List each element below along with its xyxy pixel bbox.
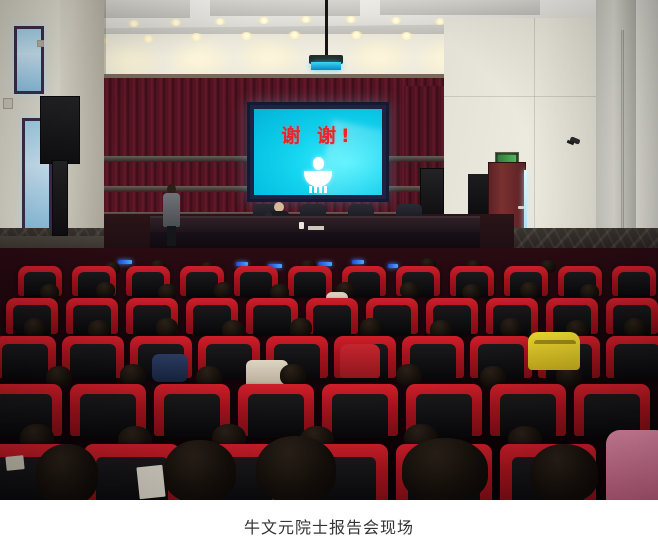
audience-head-f2 [164,440,236,500]
device-glow-5 [352,260,364,264]
blue-shirt [152,354,188,382]
wall-glow-4 [350,40,408,74]
slide-logo-icon [254,157,382,195]
wall-plate-small [37,40,44,47]
logo-head-shape [313,157,324,170]
caption-text: 牛文元院士报告会现场 [244,514,414,538]
audience-head-c1 [24,318,46,337]
wall-glow-3 [240,40,298,74]
handout-paper [136,465,165,500]
downlight-l5 [288,31,301,39]
audience-head-f4 [402,438,488,500]
audience-head-d5 [396,364,422,386]
speaker-cabinet-left [40,96,80,164]
standing-presenter [163,184,180,246]
audience-head-f5 [530,444,598,500]
presenter-jacket [163,193,180,227]
downlight-u4 [214,18,226,25]
seat-back-c10 [614,344,658,379]
audience-head-c5 [290,318,312,337]
downlight-l3 [190,33,203,41]
papers-on-table [308,226,324,230]
audience-area [0,248,658,500]
seat-back-a6 [294,272,327,297]
ceiling-beam-2 [210,0,360,16]
photo-caption: 牛文元院士报告会现场 [0,500,658,552]
audience-head-f3 [256,436,336,500]
wall-glow-1 [100,44,158,78]
audience-head-b9 [520,282,539,298]
seat-d5[interactable] [322,384,398,436]
logo-feet-shape [309,186,327,193]
pink-jacket [606,430,658,500]
seat-back-c2 [70,344,116,379]
seat-back-a5 [240,272,273,297]
projection-screen: 谢 谢! [247,102,389,202]
seat-back-b5 [253,305,291,335]
photo-page: 谢 谢! [0,0,658,552]
window-upper [14,26,44,94]
red-jacket [340,344,380,378]
speaker-cabinet-right [468,174,488,218]
downlight-u2 [128,20,140,27]
seat-c2[interactable] [62,336,124,378]
downlight-u5 [258,17,270,24]
downlight-l2 [142,35,155,43]
lecture-hall-photo: 谢 谢! [0,0,658,500]
handout-paper-2 [5,455,24,471]
seat-back-d3 [164,394,220,438]
audience-head-b7 [400,282,419,298]
downlight-u8 [390,17,402,24]
seat-d4[interactable] [238,384,314,436]
wall-seam-2 [444,96,596,97]
seat-a6[interactable] [288,266,332,296]
yellow-jacket-strap [534,340,576,344]
far-right-wall [636,0,658,250]
audience-head-b4 [214,282,233,298]
presenter-legs [167,226,176,246]
audience-head-c3 [156,318,178,337]
speaker-stand-left [52,160,68,236]
device-glow-6 [388,264,398,268]
downlight-l7 [400,32,413,40]
audience-head-d4 [280,364,306,386]
downlight-l6 [350,31,363,39]
audience-head-c10 [624,318,646,337]
screen-surface: 谢 谢! [254,109,382,195]
audience-head-c8 [500,318,522,337]
ceiling-beam-3 [380,0,540,15]
wall-seam-1 [534,18,535,248]
seat-back-c1 [2,344,48,379]
wall-pipe [621,30,624,240]
audience-head-f1 [36,444,98,500]
water-cup [299,222,304,229]
seat-a12[interactable] [612,266,656,296]
seat-b6[interactable] [306,298,358,334]
yellow-jacket [528,332,580,370]
downlight-u6 [300,16,312,23]
projector-lens-icon [311,62,341,70]
downlight-u3 [170,19,182,26]
downlight-u7 [345,16,357,23]
speaker-cabinet-right-2 [420,168,444,218]
device-glow-1 [118,260,132,264]
seat-back-d5 [332,394,388,438]
wall-glow-2 [170,42,228,76]
projector-mount-pole [325,0,328,56]
seat-back-d4 [248,394,304,438]
right-pillar [596,0,636,250]
seat-back-a12 [618,272,651,297]
audience-head-b2 [96,282,115,298]
audience-head-d2 [120,364,146,386]
downlight-l4 [240,32,253,40]
seat-d8[interactable] [574,384,650,436]
exit-sign-light [498,155,516,162]
slide-text: 谢 谢! [254,121,382,148]
wall-plate-left [3,98,13,109]
seat-back-b6 [313,305,351,335]
audience-head-c6 [360,318,382,337]
logo-bowl-shape [304,171,332,187]
seat-c10[interactable] [606,336,658,378]
